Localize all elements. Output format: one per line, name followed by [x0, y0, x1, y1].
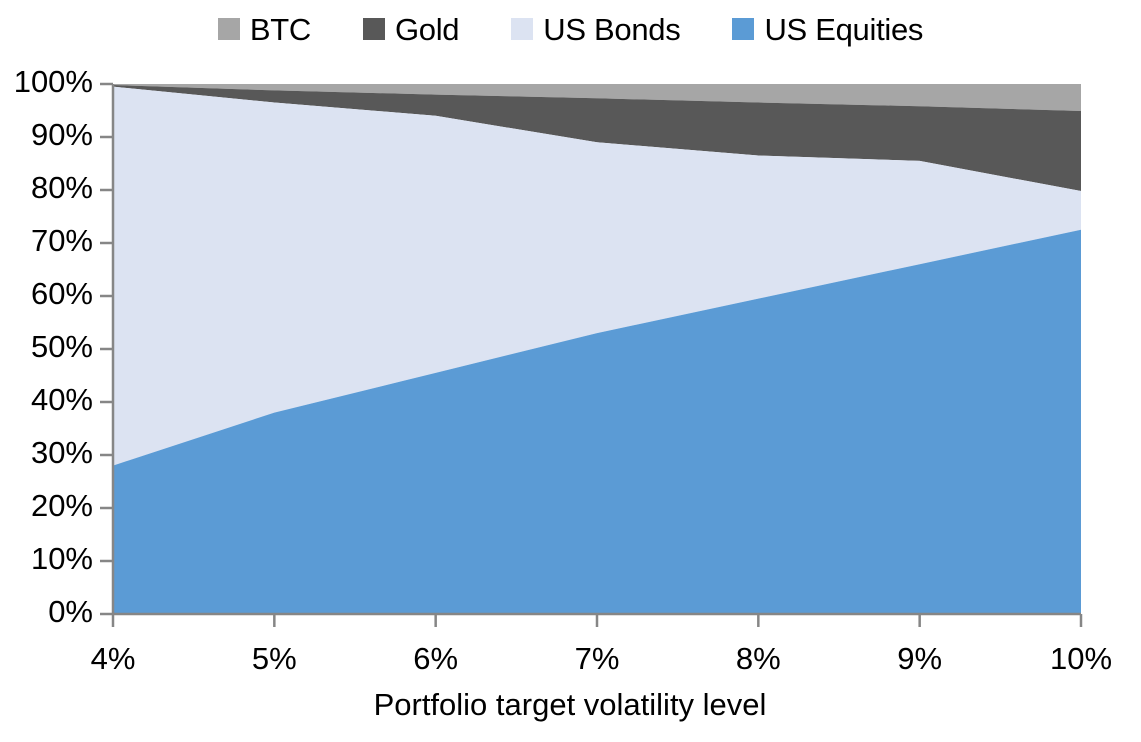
- legend-label-gold: Gold: [395, 14, 459, 45]
- legend-swatch-us-equities-icon: [732, 18, 754, 40]
- y-tick-label-8: 80%: [31, 170, 93, 205]
- chart-legend: BTC Gold US Bonds US Equities: [0, 6, 1141, 52]
- y-tick-label-10: 100%: [14, 64, 93, 99]
- x-tick-label-5: 9%: [897, 641, 942, 676]
- x-tick-label-0: 4%: [91, 641, 136, 676]
- stacked-area-chart: BTC Gold US Bonds US Equities: [0, 0, 1141, 742]
- y-tick-label-9: 90%: [31, 117, 93, 152]
- x-axis-title: Portfolio target volatility level: [374, 687, 767, 722]
- legend-swatch-gold-icon: [363, 18, 385, 40]
- legend-swatch-us-bonds-icon: [511, 18, 533, 40]
- y-axis-tick-labels: 0%10%20%30%40%50%60%70%80%90%100%: [14, 64, 93, 629]
- legend-label-us-equities: US Equities: [764, 14, 923, 45]
- legend-item-gold[interactable]: Gold: [363, 14, 459, 45]
- y-tick-label-1: 10%: [31, 541, 93, 576]
- y-tick-label-4: 40%: [31, 382, 93, 417]
- x-tick-label-3: 7%: [575, 641, 620, 676]
- legend-swatch-btc-icon: [218, 18, 240, 40]
- plot-svg: 0%10%20%30%40%50%60%70%80%90%100% 4%5%6%…: [0, 52, 1141, 742]
- y-tick-label-6: 60%: [31, 276, 93, 311]
- legend-item-us-equities[interactable]: US Equities: [732, 14, 923, 45]
- legend-item-btc[interactable]: BTC: [218, 14, 311, 45]
- plot-area: 0%10%20%30%40%50%60%70%80%90%100% 4%5%6%…: [0, 52, 1141, 742]
- y-tick-label-5: 50%: [31, 329, 93, 364]
- y-tick-label-2: 20%: [31, 488, 93, 523]
- x-tick-label-6: 10%: [1050, 641, 1112, 676]
- legend-item-us-bonds[interactable]: US Bonds: [511, 14, 680, 45]
- x-tick-label-2: 6%: [413, 641, 458, 676]
- x-axis-tick-labels: 4%5%6%7%8%9%10%: [91, 641, 1112, 676]
- y-tick-label-0: 0%: [48, 594, 93, 629]
- legend-label-us-bonds: US Bonds: [543, 14, 680, 45]
- x-tick-label-4: 8%: [736, 641, 781, 676]
- y-tick-label-3: 30%: [31, 435, 93, 470]
- series-layer: [113, 84, 1081, 614]
- x-tick-label-1: 5%: [252, 641, 297, 676]
- legend-label-btc: BTC: [250, 14, 311, 45]
- y-tick-label-7: 70%: [31, 223, 93, 258]
